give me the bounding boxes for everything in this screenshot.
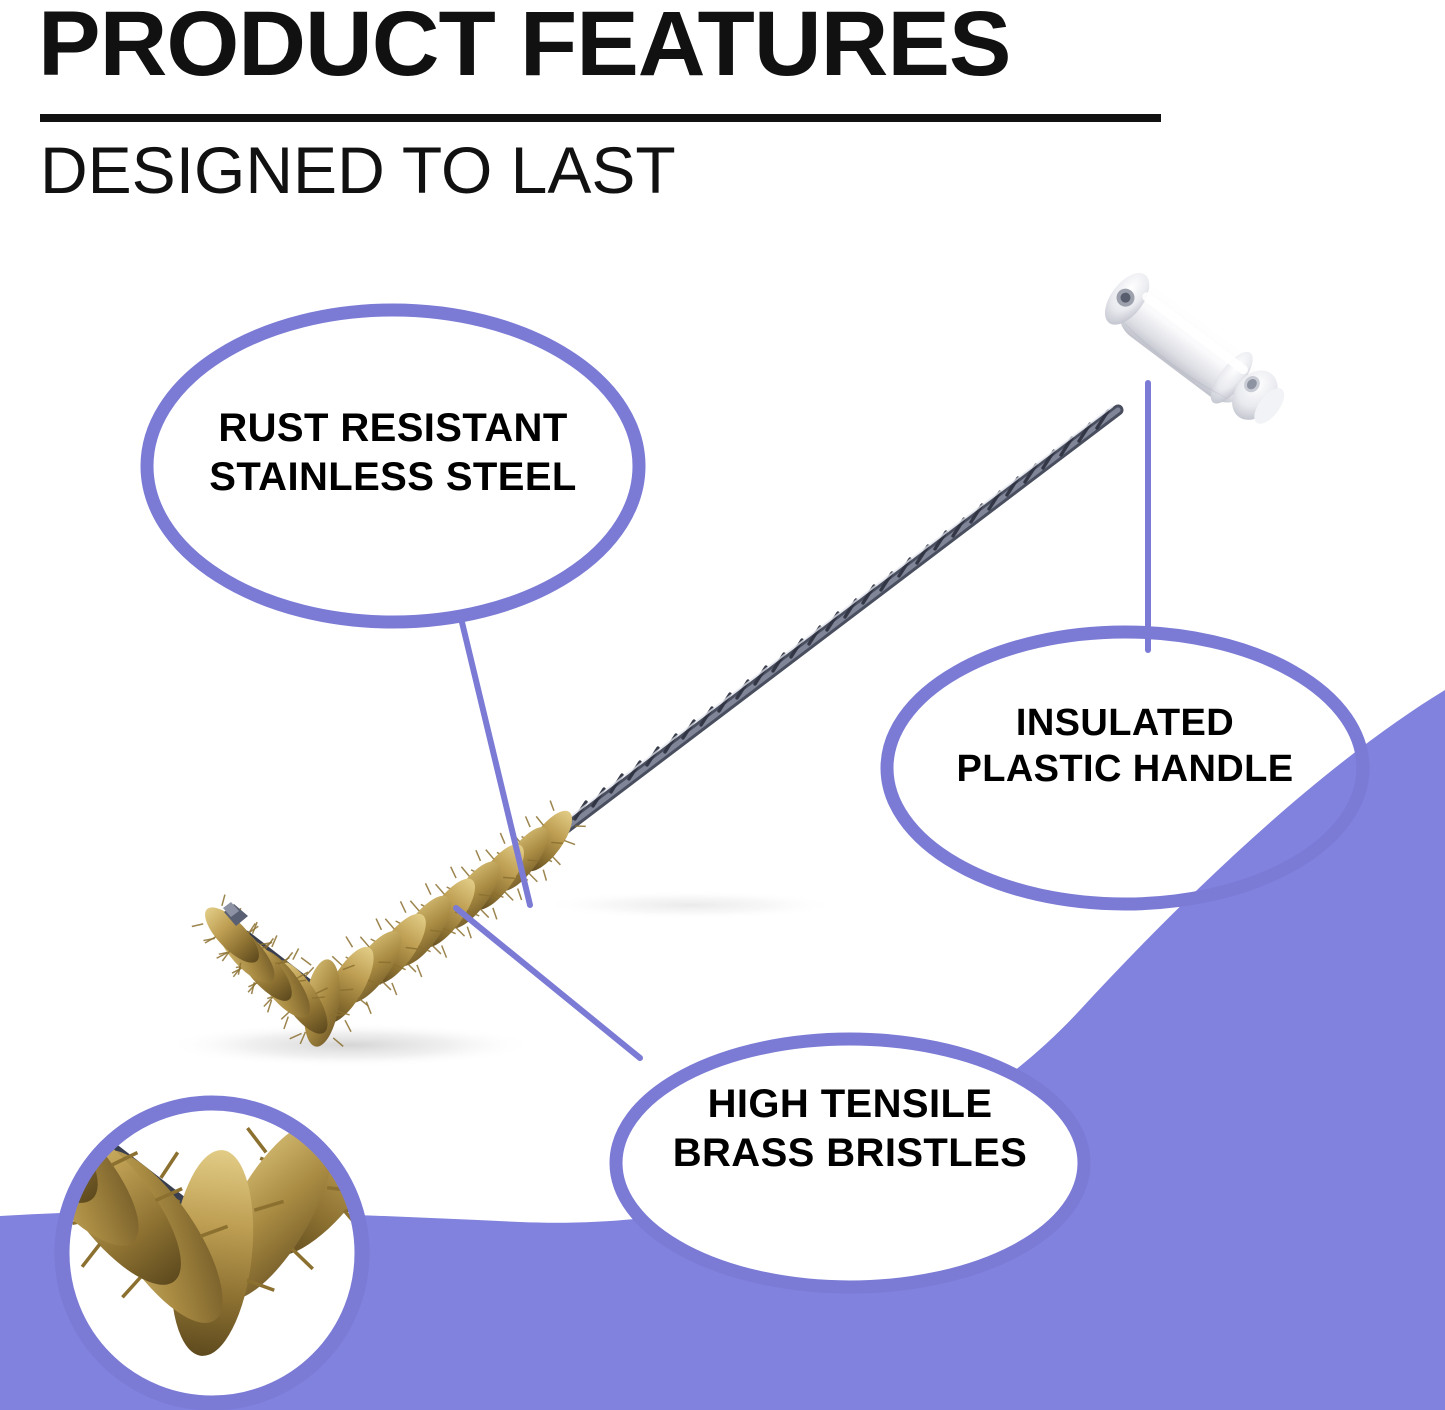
brush-head (189, 798, 589, 1051)
callout-label-insulated-handle: INSULATED PLASTIC HANDLE (890, 700, 1360, 793)
page-title: PRODUCT FEATURES (38, 0, 1010, 93)
infographic-canvas: PRODUCT FEATURES DESIGNED TO LAST RUST R… (0, 0, 1445, 1410)
product-brush (165, 264, 1296, 1067)
plastic-handle (1096, 264, 1296, 436)
callout-label-brass-bristles: HIGH TENSILE BRASS BRISTLES (615, 1080, 1085, 1178)
page-subtitle: DESIGNED TO LAST (40, 134, 676, 207)
callout-label-rust-resistant: RUST RESISTANT STAINLESS STEEL (148, 404, 638, 502)
shaft-shadow (540, 891, 840, 919)
title-divider (40, 114, 1161, 122)
bristle-tufts-upper (287, 798, 588, 1051)
